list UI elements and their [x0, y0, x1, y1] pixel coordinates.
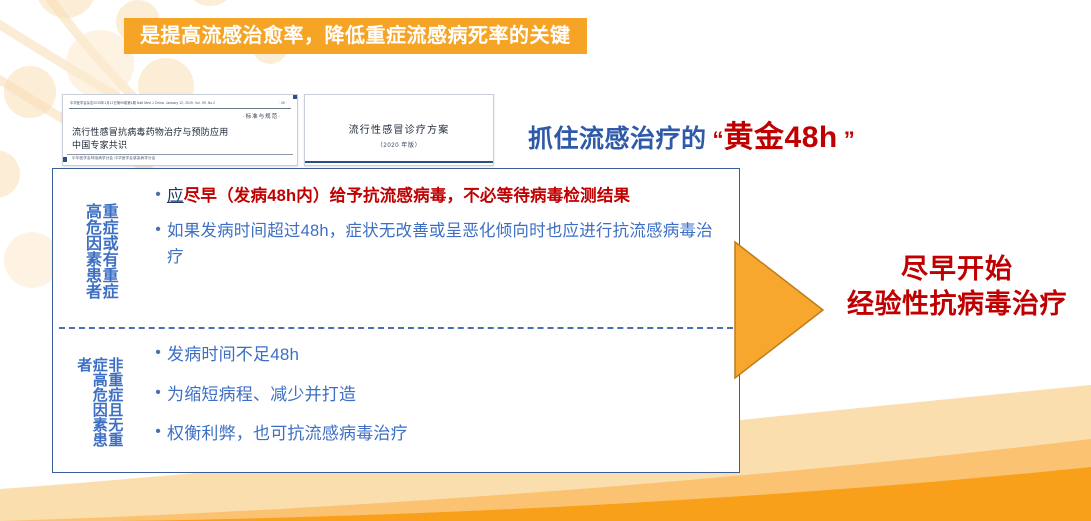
doc-header-citation: 中华医学会杂志2019年1月12日第99卷第1期 Natl Med J Chin…	[70, 102, 215, 105]
headline-open-quote: “	[713, 127, 724, 153]
list-item: • 如果发病时间超过48h，症状无改善或呈恶化倾向时也应进行抗流感病毒治疗	[149, 218, 725, 271]
bullet-segment-underline: 应	[167, 187, 184, 205]
list-item: • 应尽早（发病48h内）给予抗流感病毒，不必等待病毒检测结果	[149, 183, 725, 210]
bullet-text: 应尽早（发病48h内）给予抗流感病毒，不必等待病毒检测结果	[167, 183, 630, 210]
section-vertical-label-non-severe: 非重症且无重 症高危因素患 者	[53, 327, 145, 471]
section-severe-or-high-risk: 重症或有重症 高危因素患者 • 应尽早（发病48h内）给予抗流感病毒，不必等待病…	[53, 169, 739, 327]
guideline-document-thumbnail[interactable]: 流行性感冒诊疗方案 （2020 年版）	[304, 94, 494, 166]
headline-close-quote: ”	[844, 127, 855, 153]
section-vertical-label-severe: 重症或有重症 高危因素患者	[53, 169, 145, 327]
doc-pin-icon	[62, 157, 67, 162]
vertical-label-column: 症高危因素患	[91, 357, 107, 447]
doc-title-line1: 流行性感冒抗病毒药物治疗与预防应用	[72, 128, 228, 137]
headline-red-text: 黄金48h	[724, 112, 838, 156]
bullet-text: 为缩短病程、减少并打造	[167, 381, 356, 409]
doc-title-line2: 中国专家共识	[72, 141, 127, 150]
vertical-label-column: 重症或有重症	[99, 203, 116, 299]
bullet-text: 如果发病时间超过48h，症状无改善或呈恶化倾向时也应进行抗流感病毒治疗	[167, 218, 725, 271]
list-item: • 权衡利弊，也可抗流感病毒治疗	[149, 420, 725, 448]
bullet-dot-icon: •	[149, 183, 167, 208]
bullet-dot-icon: •	[149, 341, 167, 366]
bullet-dot-icon: •	[149, 420, 167, 445]
doc-footer-rule	[67, 154, 293, 155]
bullet-list-non-severe: • 发病时间不足48h • 为缩短病程、减少并打造 • 权衡利弊，也可抗流感病毒…	[145, 327, 739, 471]
bullet-text: 发病时间不足48h	[167, 341, 299, 369]
golden-48h-headline: 抓住流感治疗的 “ 黄金48h ”	[528, 112, 855, 156]
bullet-dot-icon: •	[149, 381, 167, 406]
headline-blue-text: 抓住流感治疗的	[528, 119, 707, 155]
doc-page-number: · 49 ·	[279, 102, 287, 105]
doc-header-rule	[69, 108, 291, 109]
bullet-dot-icon: •	[149, 218, 167, 243]
doc-title: 流行性感冒诊疗方案	[305, 121, 493, 136]
section-non-severe: 非重症且无重 症高危因素患 者 • 发病时间不足48h • 为缩短病程、减少并打…	[53, 327, 739, 471]
vertical-label-column: 高危因素患者	[82, 203, 99, 299]
doc-bottom-rule	[305, 161, 493, 163]
doc-subtitle: （2020 年版）	[305, 140, 493, 149]
title-banner-text: 是提高流感治愈率，降低重症流感病死率的关键	[140, 26, 571, 46]
bullet-segment-red: 尽早（发病48h内）给予抗流感病毒，不必等待病毒检测结果	[184, 187, 631, 205]
conclusion-line-2: 经验性抗病毒治疗	[828, 287, 1086, 322]
bullet-text: 权衡利弊，也可抗流感病毒治疗	[167, 420, 408, 448]
bullet-list-severe: • 应尽早（发病48h内）给予抗流感病毒，不必等待病毒检测结果 • 如果发病时间…	[145, 169, 739, 327]
consensus-document-thumbnail[interactable]: 中华医学会杂志2019年1月12日第99卷第1期 Natl Med J Chin…	[62, 94, 298, 166]
right-arrow-icon	[733, 240, 825, 380]
doc-pin-icon	[293, 94, 298, 99]
title-banner: 是提高流感治愈率，降低重症流感病死率的关键	[124, 18, 587, 54]
list-item: • 为缩短病程、减少并打造	[149, 381, 725, 409]
conclusion-text: 尽早开始 经验性抗病毒治疗	[828, 252, 1086, 321]
vertical-label-column: 非重症且无重	[107, 357, 123, 447]
conclusion-line-1: 尽早开始	[828, 252, 1086, 287]
doc-section-label: ·标准与规范·	[243, 115, 281, 121]
vertical-label-column: 者	[76, 357, 92, 447]
document-thumbnails: 中华医学会杂志2019年1月12日第99卷第1期 Natl Med J Chin…	[62, 94, 494, 166]
list-item: • 发病时间不足48h	[149, 341, 725, 369]
treatment-recommendation-box: 重症或有重症 高危因素患者 • 应尽早（发病48h内）给予抗流感病毒，不必等待病…	[52, 168, 740, 473]
slide-canvas: 是提高流感治愈率，降低重症流感病死率的关键 中华医学会杂志2019年1月12日第…	[0, 0, 1091, 521]
doc-footer-affiliation: 中华医学会呼吸病学分会 中华医学会感染病学分会	[72, 157, 156, 161]
